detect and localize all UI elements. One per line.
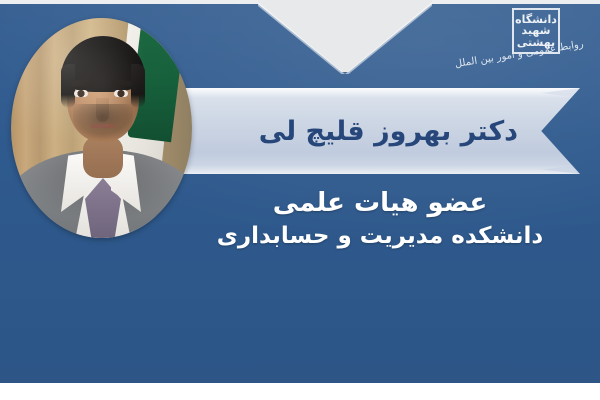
person-name: دکتر بهروز قلیچ لی	[259, 88, 518, 174]
role-line-2: دانشکده مدیریت و حسابداری	[200, 220, 560, 252]
portrait-photo	[11, 18, 192, 238]
university-logo: دانشگاه شهید بهشتی روابط عمومی و امور بی…	[470, 4, 592, 84]
role-block: عضو هیات علمی دانشکده مدیریت و حسابداری	[200, 186, 560, 252]
logo-emblem-line-2: شهید	[522, 25, 551, 36]
bottom-white-band	[0, 383, 600, 400]
eye-left	[74, 90, 88, 97]
eye-right	[114, 90, 128, 97]
hair-side-right	[131, 64, 145, 108]
role-line-1: عضو هیات علمی	[200, 186, 560, 220]
logo-calligraphy-script: روابط عمومی و امور بین الملل	[464, 39, 588, 91]
mouth	[91, 124, 115, 128]
portrait-avatar	[11, 18, 192, 238]
profile-card: دانشگاه شهید بهشتی روابط عمومی و امور بی…	[0, 0, 600, 400]
